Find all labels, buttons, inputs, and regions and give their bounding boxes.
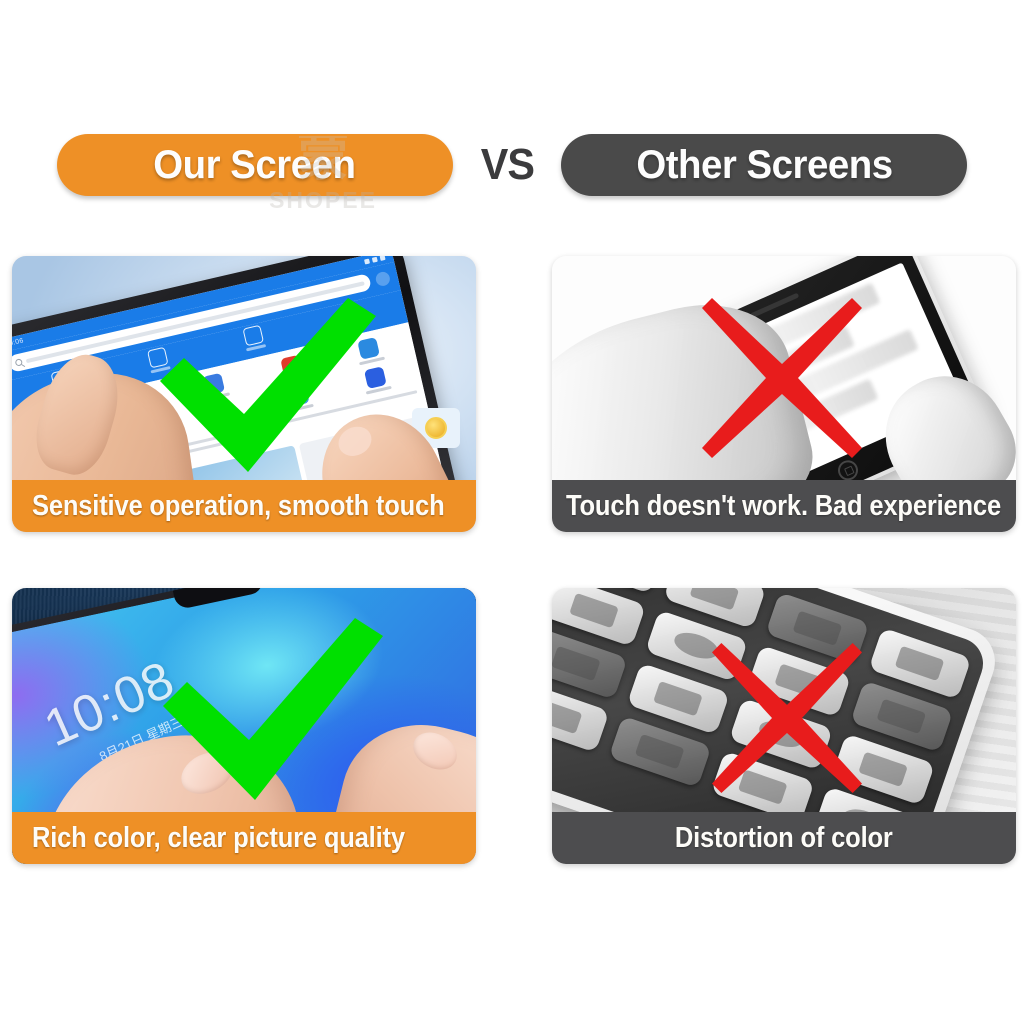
our-screen-badge: Our Screen [57,134,453,196]
app-icon [210,402,233,425]
caption-sensitive-touch: Sensitive operation, smooth touch [12,480,476,532]
comparison-grid: 10:06 [12,256,1016,864]
panel-top-right: Touch doesn't work. Bad experience [552,256,1016,532]
caption-rich-color: Rich color, clear picture quality [12,812,476,864]
app-icon [364,366,387,389]
caption-label: Distortion of color [675,822,893,855]
status-icons [364,256,386,265]
panel-bottom-right: Distortion of color [552,588,1016,864]
transfer-icon [243,325,265,347]
our-screen-badge-label: Our Screen [154,143,356,188]
battery-icon [380,256,386,261]
wallet-icon [339,303,361,325]
quick-action-item [333,301,367,330]
caption-label: Sensitive operation, smooth touch [32,490,444,523]
other-screens-badge: Other Screens [561,134,967,196]
coin-icon [425,417,447,439]
card-icon [147,347,169,369]
caption-label: Rich color, clear picture quality [32,822,405,855]
app-icon [287,384,310,407]
vs-label: VS [480,140,533,190]
panel-top-left: 10:06 [12,256,476,532]
wifi-icon [372,257,378,263]
app-icon [203,373,226,396]
caption-label: Touch doesn't work. Bad experience [566,490,1001,523]
quick-action-item [141,345,175,374]
caption-color-distortion: Distortion of color [552,812,1016,864]
comparison-header: Our Screen VS Other Screens [0,124,1024,206]
app-icon [358,337,381,360]
signal-icon [364,259,370,265]
panel-bottom-left: 10:08 8月21日 星期三 Rich color, clear pictur… [12,588,476,864]
app-icon [280,355,303,378]
search-icon [15,358,23,366]
caption-touch-fails: Touch doesn't work. Bad experience [552,480,1016,532]
quick-action-item [237,323,271,352]
profile-icon [374,270,391,287]
other-screens-badge-label: Other Screens [636,143,892,188]
